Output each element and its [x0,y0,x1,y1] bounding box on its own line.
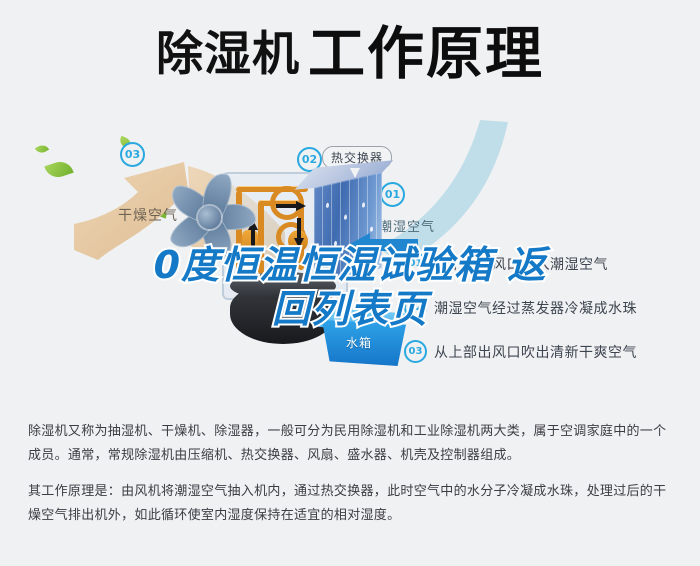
flow-arrow-right-icon [296,201,306,211]
leaf-icon [35,143,49,156]
water-tank: 水箱 [318,306,410,368]
leaf-icon [44,158,73,180]
legend-text-01: 从下部进风口吸入潮湿空气 [434,254,608,274]
legend-badge-03: 03 [404,340,427,363]
description-block: 除湿机又称为抽湿机、干燥机、除湿器，一般可分为民用除湿机和工业除湿机两大类，属于… [28,420,676,540]
legend-text-03: 从上部出风口吹出清新干爽空气 [434,342,637,362]
legend-item-03: 03 从上部出风口吹出清新干爽空气 [404,340,694,363]
flow-arrow-stem [276,204,298,208]
title-part-2: 工作原理 [308,21,544,87]
legend-badge-01: 01 [404,252,427,275]
description-paragraph-1: 除湿机又称为抽湿机、干燥机、除湿器，一般可分为民用除湿机和工业除湿机两大类，属于… [28,420,676,468]
badge-03: 03 [120,142,145,167]
legend-list: 01 从下部进风口吸入潮湿空气 02 潮湿空气经过蒸发器冷凝成水珠 03 从上部… [404,252,694,384]
legend-badge-02: 02 [404,296,427,319]
description-paragraph-2: 其工作原理是：由风机将潮湿空气抽入机内，通过热交换器，此时空气中的水分子冷凝成水… [28,480,676,528]
evaporator-fins [314,172,382,284]
legend-item-01: 01 从下部进风口吸入潮湿空气 [404,252,694,275]
page-title: 除湿机工作原理 [0,26,700,83]
flow-arrow-stem [297,218,301,238]
legend-item-02: 02 潮湿空气经过蒸发器冷凝成水珠 [404,296,694,319]
legend-text-02: 潮湿空气经过蒸发器冷凝成水珠 [434,298,637,318]
fan-hub [198,206,221,229]
water-tank-label: 水箱 [346,334,372,351]
infographic-page: 除湿机工作原理 03 干燥空气 01 潮湿空气 [0,0,700,566]
compressor-top [230,272,336,300]
fan-icon [160,164,264,260]
flow-arrow-down-icon [294,238,304,248]
title-part-1: 除湿机 [156,27,300,82]
